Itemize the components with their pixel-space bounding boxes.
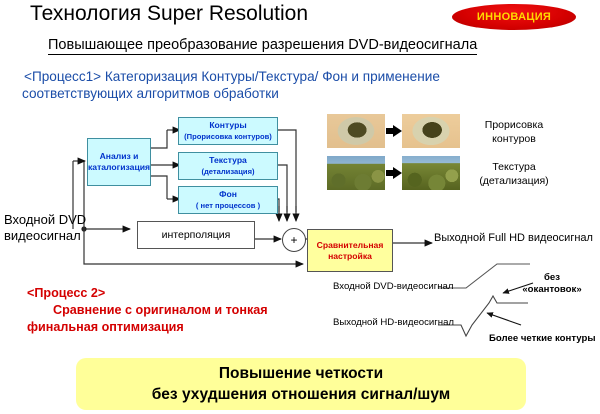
- block-texture-line2: (детализация): [201, 166, 254, 177]
- slide-root: Технология Super Resolution ИННОВАЦИЯ По…: [0, 0, 600, 414]
- innovation-badge: ИННОВАЦИЯ: [452, 4, 576, 30]
- sample-contours-after-image: [402, 114, 460, 148]
- block-background-line1: Фон: [219, 189, 237, 200]
- conclusion-line2: без ухудшения отношения сигнал/шум: [152, 384, 451, 405]
- summing-junction: +: [282, 228, 306, 252]
- process1-description: <Процесс1> Категоризация Контуры/Текстур…: [24, 68, 569, 102]
- process2-line3: финальная оптимизация: [27, 319, 268, 336]
- label-input-dvd-line1: Входной DVD: [4, 212, 94, 228]
- block-comparative-adjustment[interactable]: Сравнительная настройка: [307, 229, 393, 272]
- label-input-dvd-line2: видеосигнал: [4, 228, 94, 244]
- waveform-output-label: Выходной HD-видеосигнал: [333, 317, 454, 328]
- process1-line1: <Процесс1> Категоризация Контуры/Текстур…: [24, 68, 569, 85]
- process2-line1: <Процесс 2>: [27, 285, 268, 302]
- sample-texture-caption: Текстура (детализация): [466, 160, 562, 188]
- block-contours-line2: (Прорисовка контуров): [184, 131, 272, 142]
- block-compare-line2: настройка: [328, 251, 372, 262]
- annotation-no-ringing-line1: без: [520, 272, 584, 284]
- conclusion-banner: Повышение четкости без ухудшения отношен…: [76, 358, 526, 410]
- block-contours[interactable]: Контуры (Прорисовка контуров): [178, 117, 278, 145]
- page-title: Технология Super Resolution: [30, 2, 308, 26]
- annotation-sharper-contours: Более четкие контуры: [489, 333, 596, 344]
- sample-texture-caption-line2: (детализация): [466, 174, 562, 188]
- label-output-fullhd-signal: Выходной Full HD видеосигнал: [434, 232, 593, 244]
- sample-texture-after-image: [402, 156, 460, 190]
- sample-texture-caption-line1: Текстура: [466, 160, 562, 174]
- conclusion-line1: Повышение четкости: [219, 363, 383, 384]
- diagram-connectors: [0, 0, 600, 414]
- block-texture-line1: Текстура: [209, 155, 247, 166]
- block-background[interactable]: Фон ( нет процессов ): [178, 186, 278, 214]
- process2-description: <Процесс 2> Сравнение с оригиналом и тон…: [27, 285, 268, 336]
- annotation-no-ringing: без «окантовок»: [520, 272, 584, 296]
- block-background-line2: ( нет процессов ): [196, 200, 260, 211]
- block-texture[interactable]: Текстура (детализация): [178, 152, 278, 180]
- sample-texture-before-image: [327, 156, 385, 190]
- sample-contours-caption-line1: Прорисовка: [466, 118, 562, 132]
- waveform-input-label: Входной DVD-видеосигнал: [333, 281, 453, 292]
- label-input-dvd-signal: Входной DVD видеосигнал: [4, 212, 94, 244]
- page-subtitle: Повышающее преобразование разрешения DVD…: [48, 37, 477, 55]
- block-compare-line1: Сравнительная: [317, 240, 384, 251]
- innovation-badge-label: ИННОВАЦИЯ: [477, 11, 551, 23]
- sample-contours-before-image: [327, 114, 385, 148]
- sample-contours-caption: Прорисовка контуров: [466, 118, 562, 146]
- block-analysis-line1: Анализ и: [100, 151, 139, 162]
- block-analysis-line2: каталогизация: [88, 162, 150, 173]
- block-analysis-catalog[interactable]: Анализ и каталогизация: [87, 138, 151, 186]
- process1-line2: соответствующих алгоритмов обработки: [22, 85, 569, 102]
- sample-contours-caption-line2: контуров: [466, 132, 562, 146]
- block-contours-line1: Контуры: [209, 120, 246, 131]
- annotation-no-ringing-line2: «окантовок»: [520, 284, 584, 296]
- process2-line2: Сравнение с оригиналом и тонкая: [53, 302, 268, 319]
- block-interpolation[interactable]: интерполяция: [137, 221, 255, 249]
